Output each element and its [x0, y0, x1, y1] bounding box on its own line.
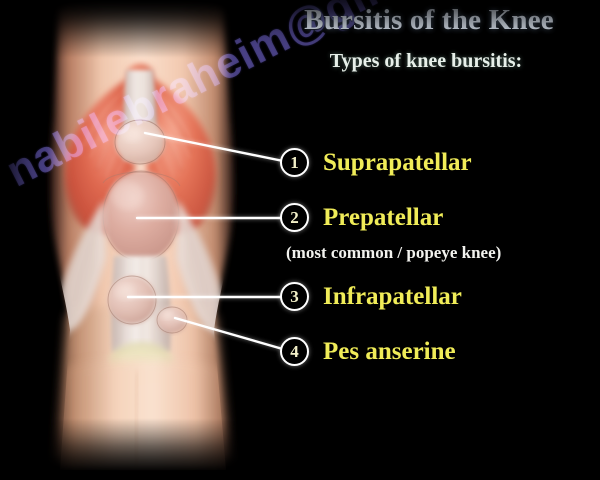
- legend-number-3: 3: [280, 282, 309, 311]
- legend-number-4: 4: [280, 337, 309, 366]
- legend-number-2: 2: [280, 203, 309, 232]
- legend-label-infrapatellar: Infrapatellar: [323, 283, 462, 311]
- legend-item-4[interactable]: 4 Pes anserine: [280, 337, 456, 366]
- illustration-page: nabilebraheim@gmail.com Bursitis of the …: [0, 0, 600, 480]
- legend-item-1[interactable]: 1 Suprapatellar: [280, 148, 472, 177]
- text-panel: Bursitis of the Knee Types of knee bursi…: [258, 0, 600, 480]
- legend-item-3[interactable]: 3 Infrapatellar: [280, 282, 462, 311]
- legend-label-suprapatellar: Suprapatellar: [323, 149, 472, 177]
- legend-item-2[interactable]: 2 Prepatellar: [280, 203, 443, 232]
- legend-label-pes-anserine: Pes anserine: [323, 338, 456, 366]
- legend-note-prepatellar: (most common / popeye knee): [286, 243, 600, 263]
- suprapatellar-bursa: [115, 120, 165, 164]
- pes-anserine-bursa: [157, 307, 187, 333]
- knee-anatomy-illustration: [0, 0, 300, 480]
- legend-number-1: 1: [280, 148, 309, 177]
- page-title: Bursitis of the Knee: [258, 4, 600, 37]
- legend-label-prepatellar: Prepatellar: [323, 204, 443, 232]
- patella: [103, 171, 179, 261]
- infrapatellar-bursa: [108, 276, 156, 324]
- page-subtitle: Types of knee bursitis:: [258, 50, 594, 73]
